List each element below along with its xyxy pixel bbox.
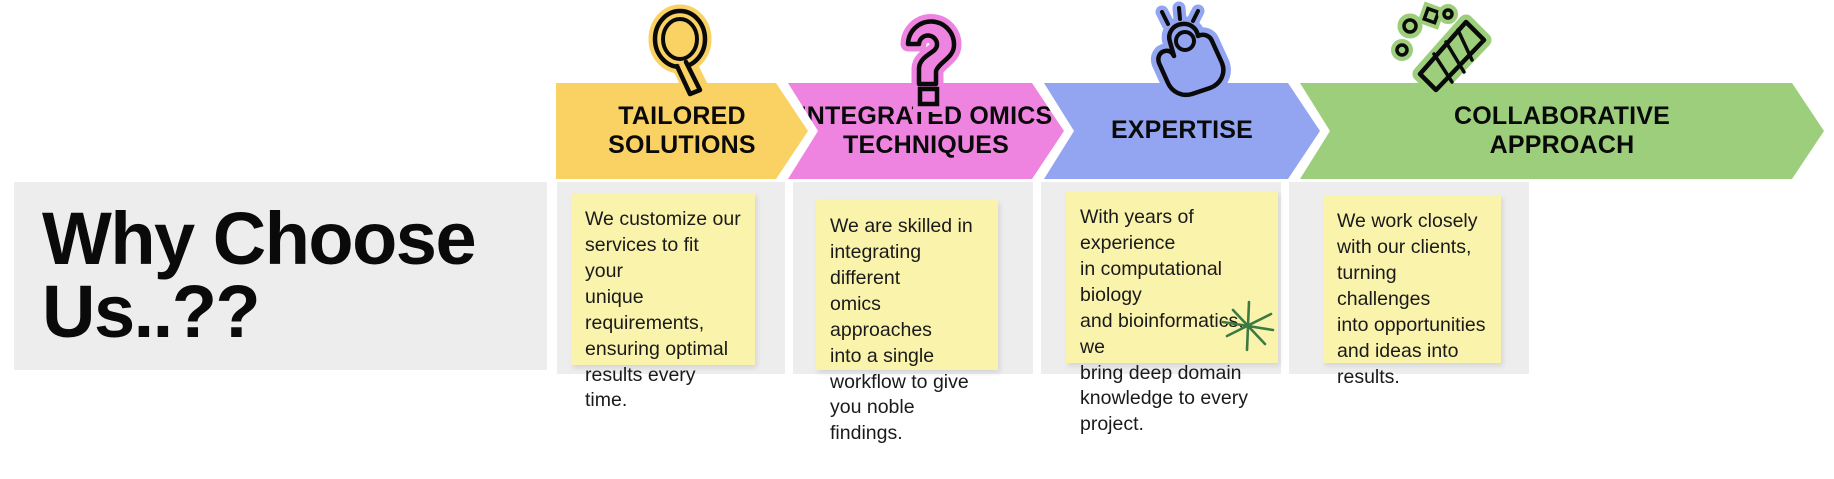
note-card-collaborative-approach: We work closely with our clients, turnin… (1289, 182, 1529, 374)
infographic-canvas: Why Choose Us..?? TAILORED SOLUTIONS INT… (0, 0, 1834, 479)
question-mark-icon (866, 8, 996, 94)
ok-hand-icon (1124, 8, 1254, 94)
chevron-collaborative-approach[interactable]: COLLABORATIVE APPROACH (1300, 83, 1824, 179)
chevron-band: TAILORED SOLUTIONS INTEGRATED OMICS TECH… (0, 0, 1834, 182)
chevron-label: EXPERTISE (1101, 116, 1263, 146)
chevron-label: TAILORED SOLUTIONS (598, 102, 766, 161)
page-title: Why Choose Us..?? (14, 203, 475, 348)
sticky-note: We customize our services to fit your un… (571, 193, 755, 365)
note-card-tailored-solutions: We customize our services to fit your un… (557, 182, 785, 374)
note-card-expertise: With years of experience in computationa… (1041, 182, 1281, 374)
chevron-tailored-solutions[interactable]: TAILORED SOLUTIONS (556, 83, 808, 179)
note-card-integrated-omics-techniques: We are skilled in integrating different … (793, 182, 1033, 374)
party-popper-icon (1380, 8, 1510, 94)
page-title-panel: Why Choose Us..?? (14, 182, 547, 370)
sticky-note: We are skilled in integrating different … (816, 200, 998, 370)
chevron-label: COLLABORATIVE APPROACH (1444, 102, 1680, 161)
sticky-note: We work closely with our clients, turnin… (1323, 195, 1501, 363)
star-doodle-icon (1221, 300, 1277, 352)
magnifying-glass-icon (622, 8, 752, 94)
